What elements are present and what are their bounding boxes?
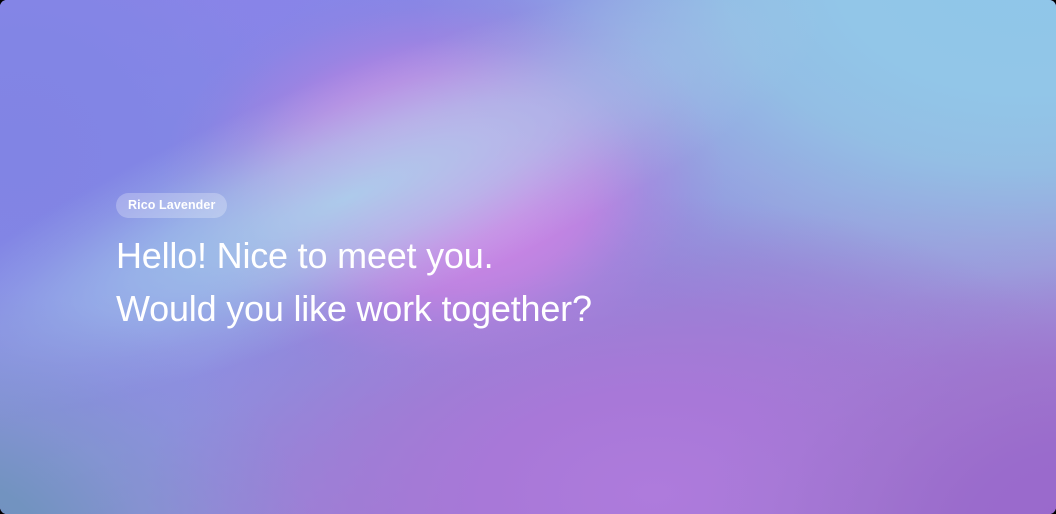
message-content: Rico Lavender Hello! Nice to meet you. W… — [116, 193, 816, 335]
author-badge: Rico Lavender — [116, 193, 227, 218]
headline-line-1: Hello! Nice to meet you. — [116, 229, 816, 282]
gradient-message-card: Rico Lavender Hello! Nice to meet you. W… — [0, 0, 1056, 514]
headline-line-2: Would you like work together? — [116, 282, 816, 335]
headline: Hello! Nice to meet you. Would you like … — [116, 229, 816, 335]
